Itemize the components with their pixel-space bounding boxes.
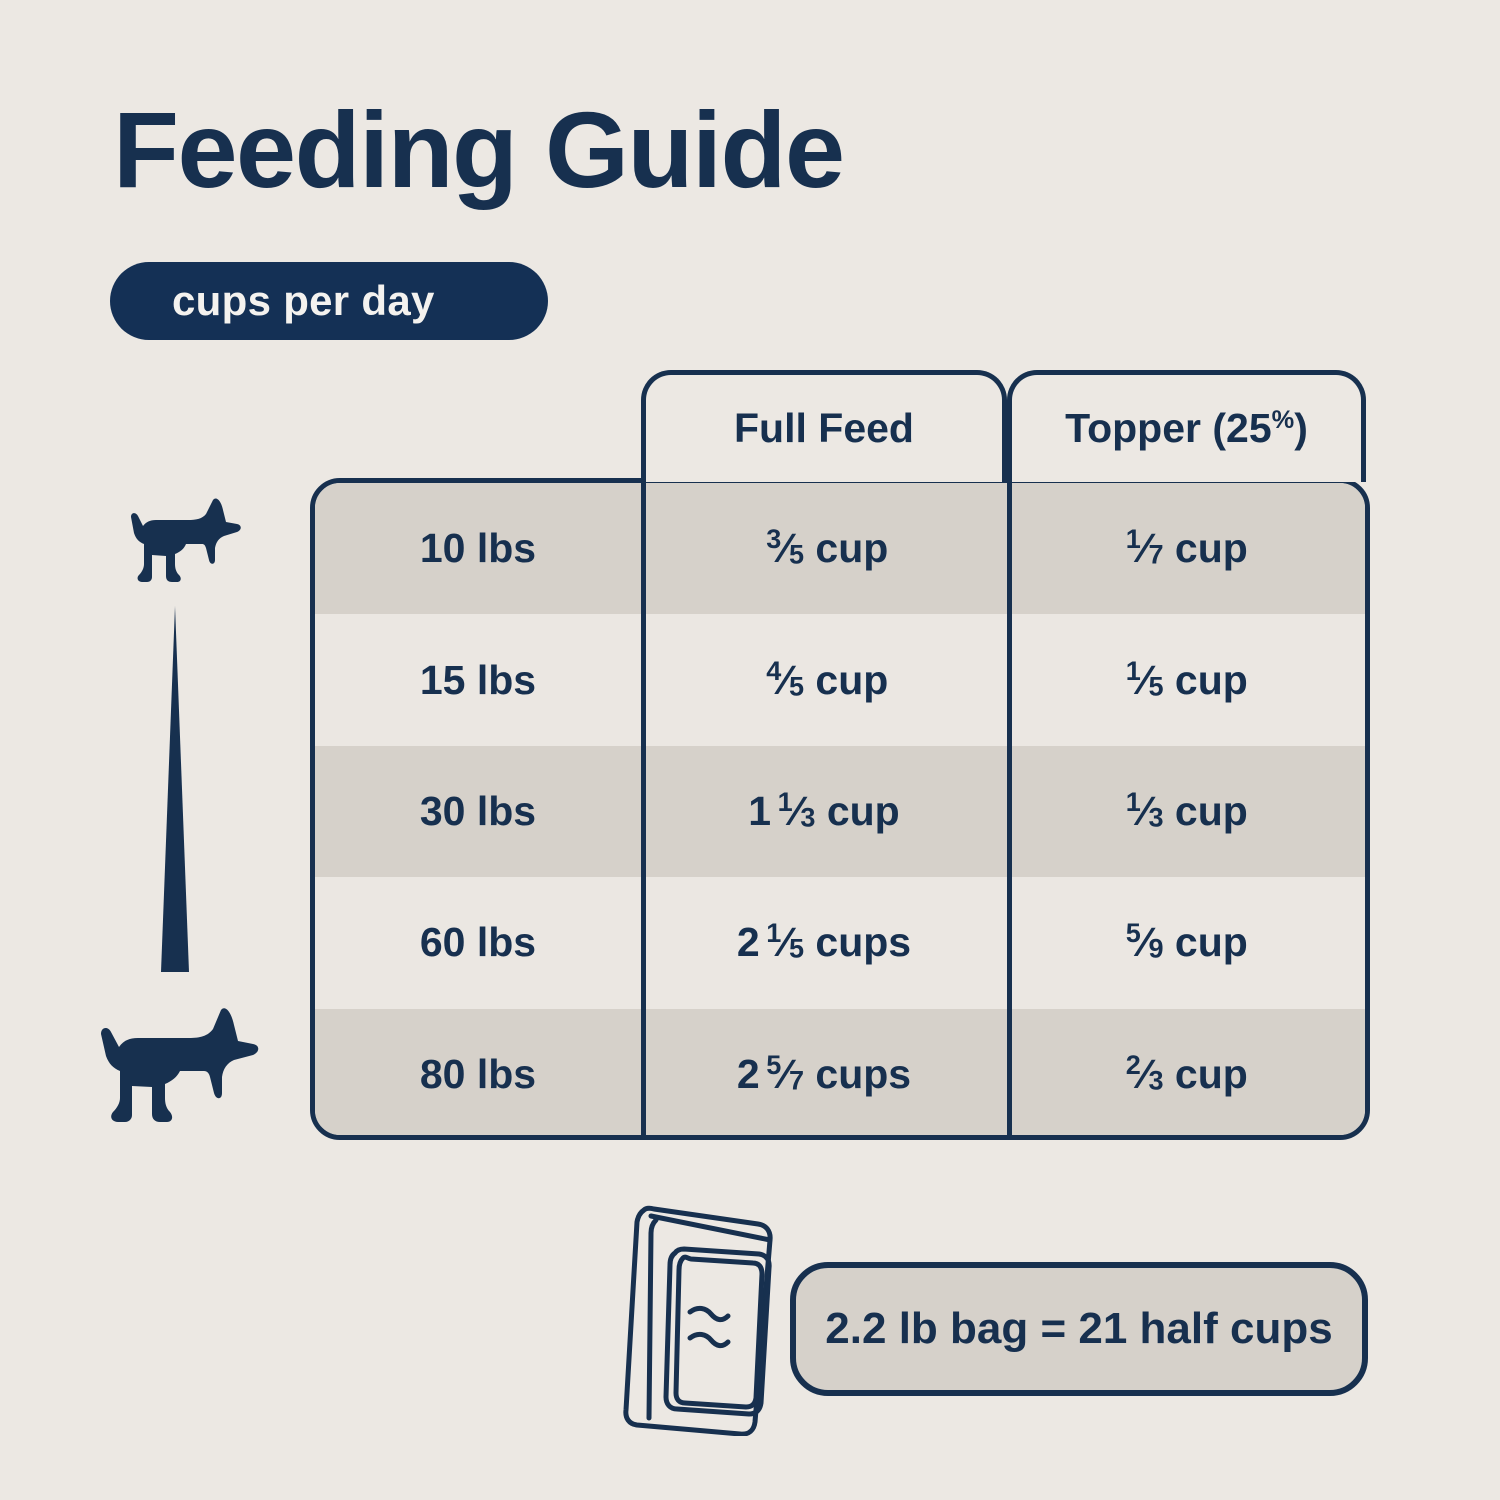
feeding-table: Full Feed Topper (25%) 10 lbs 3⁄5 cup 1⁄… [310, 370, 1370, 1140]
size-wedge-icon [160, 606, 190, 972]
cell-topper: 2⁄3 cup [1007, 1009, 1360, 1140]
large-dog-icon [85, 1000, 273, 1130]
food-bag-icon [618, 1196, 828, 1436]
header-label-topper: Topper (25%) [1065, 408, 1308, 449]
column-divider-1 [641, 478, 646, 1140]
badge-label: cups per day [110, 280, 435, 322]
table-row: 10 lbs 3⁄5 cup 1⁄7 cup [315, 483, 1365, 614]
cell-full-feed: 21⁄5 cups [641, 877, 1007, 1008]
cell-full-feed: 11⁄3 cup [641, 746, 1007, 877]
cell-topper: 5⁄9 cup [1007, 877, 1360, 1008]
bag-yield-label: 2.2 lb bag = 21 half cups [825, 1307, 1332, 1351]
table-row: 60 lbs 21⁄5 cups 5⁄9 cup [315, 877, 1365, 1008]
table-header-topper: Topper (25%) [1007, 370, 1366, 482]
table-row: 15 lbs 4⁄5 cup 1⁄5 cup [315, 614, 1365, 745]
cell-weight: 10 lbs [315, 483, 641, 614]
cell-topper: 1⁄7 cup [1007, 483, 1360, 614]
cell-full-feed: 3⁄5 cup [641, 483, 1007, 614]
infographic-canvas: Feeding Guide cups per day Full Feed Top… [0, 0, 1500, 1500]
cell-topper: 1⁄5 cup [1007, 614, 1360, 745]
column-divider-2 [1007, 478, 1012, 1140]
cell-weight: 15 lbs [315, 614, 641, 745]
bag-yield-note: 2.2 lb bag = 21 half cups [790, 1262, 1368, 1396]
table-row: 80 lbs 25⁄7 cups 2⁄3 cup [315, 1009, 1365, 1140]
cell-full-feed: 25⁄7 cups [641, 1009, 1007, 1140]
page-title: Feeding Guide [113, 96, 844, 204]
cell-weight: 30 lbs [315, 746, 641, 877]
cups-per-day-badge: cups per day [110, 262, 548, 340]
table-row: 30 lbs 11⁄3 cup 1⁄3 cup [315, 746, 1365, 877]
table-header-full-feed: Full Feed [641, 370, 1007, 482]
table-body: 10 lbs 3⁄5 cup 1⁄7 cup 15 lbs 4⁄5 cup 1⁄… [310, 478, 1370, 1140]
cell-full-feed: 4⁄5 cup [641, 614, 1007, 745]
small-dog-icon [120, 492, 248, 588]
cell-weight: 60 lbs [315, 877, 641, 1008]
cell-weight: 80 lbs [315, 1009, 641, 1140]
cell-topper: 1⁄3 cup [1007, 746, 1360, 877]
header-label-full-feed: Full Feed [734, 408, 914, 449]
